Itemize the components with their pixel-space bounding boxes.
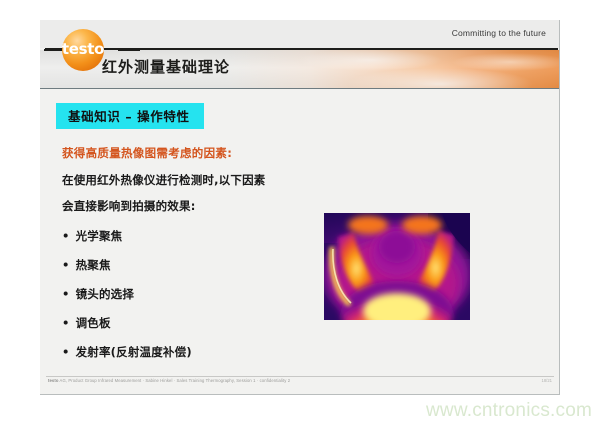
bullet-dot-icon: • xyxy=(62,287,70,301)
page-title: 红外测量基础理论 xyxy=(102,56,230,77)
list-item-label: 发射率(反射温度补偿) xyxy=(76,345,192,359)
body-paragraph-2: 会直接影响到拍摄的效果: xyxy=(62,198,342,214)
testo-logo: testo xyxy=(62,29,104,71)
logo-dash-right-icon xyxy=(118,49,140,51)
list-item: •热聚焦 xyxy=(62,257,342,273)
thermal-image xyxy=(324,213,470,320)
logo-wordmark: testo xyxy=(52,42,114,57)
site-watermark: www.cntronics.com xyxy=(426,400,592,422)
header-bottom-rule xyxy=(40,88,560,89)
bullet-dot-icon: • xyxy=(62,345,70,359)
bullet-dot-icon: • xyxy=(62,316,70,330)
footer-page-number: 18/21 xyxy=(542,378,552,383)
list-item: •调色板 xyxy=(62,315,342,331)
bullet-dot-icon: • xyxy=(62,229,70,243)
header-tagline: Committing to the future xyxy=(452,28,546,38)
footer-divider-rule xyxy=(46,376,554,377)
bullet-list: •光学聚焦 •热聚焦 •镜头的选择 •调色板 •发射率(反射温度补偿) xyxy=(62,228,342,360)
bullet-dot-icon: • xyxy=(62,258,70,272)
list-item: •光学聚焦 xyxy=(62,228,342,244)
slide-footer: testo AG, Product Group Infrared Measure… xyxy=(40,376,560,388)
list-item-label: 光学聚焦 xyxy=(76,229,123,243)
infrared-thermal-image-icon xyxy=(324,213,470,320)
slide-header: Committing to the future testo 红外测量基础理论 xyxy=(40,20,560,88)
list-item-label: 热聚焦 xyxy=(76,258,111,272)
body-paragraph-1: 在使用红外热像仪进行检测时,以下因素 xyxy=(62,172,342,188)
presentation-slide: Committing to the future testo 红外测量基础理论 … xyxy=(40,20,560,395)
footer-brand: testo xyxy=(48,378,59,383)
list-item: •发射率(反射温度补偿) xyxy=(62,344,342,360)
section-subtitle-badge: 基础知识 – 操作特性 xyxy=(56,103,204,129)
list-item: •镜头的选择 xyxy=(62,286,342,302)
thermal-top-right-flare xyxy=(402,216,442,234)
body-lead-text: 获得高质量热像图需考虑的因素: xyxy=(62,145,342,161)
thermal-top-left-flare xyxy=(348,216,388,234)
footer-text: testo AG, Product Group Infrared Measure… xyxy=(48,378,290,383)
slide-body: 获得高质量热像图需考虑的因素: 在使用红外热像仪进行检测时,以下因素 会直接影响… xyxy=(62,145,342,373)
footer-meta: AG, Product Group Infrared Measurement ·… xyxy=(59,378,291,383)
thermal-cool-centre-core xyxy=(379,231,415,263)
list-item-label: 镜头的选择 xyxy=(76,287,135,301)
list-item-label: 调色板 xyxy=(76,316,111,330)
